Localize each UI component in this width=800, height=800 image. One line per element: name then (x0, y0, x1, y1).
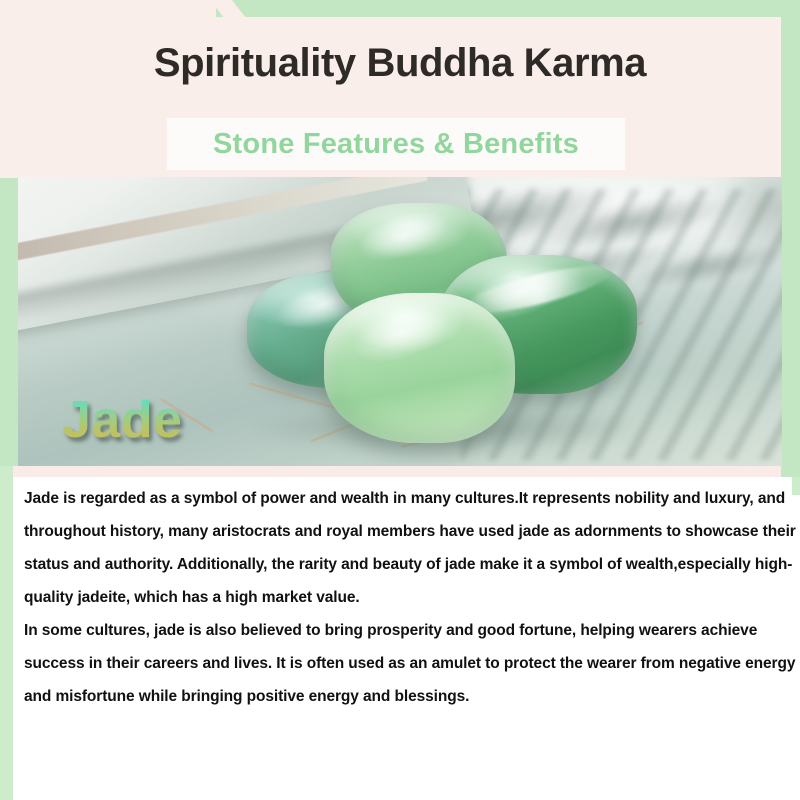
green-rail-left (0, 466, 13, 800)
subtitle-text: Stone Features & Benefits (213, 128, 579, 161)
page-title: Spirituality Buddha Karma (0, 40, 800, 86)
product-info-banner: Spirituality Buddha Karma Stone Features… (0, 0, 800, 800)
body-paragraph-1: Jade is regarded as a symbol of power an… (24, 482, 796, 614)
pink-divider-right-cap (781, 466, 800, 477)
pink-divider (0, 466, 781, 477)
body-paragraph-2: In some cultures, jade is also believed … (24, 614, 796, 713)
body-description: Jade is regarded as a symbol of power an… (24, 482, 796, 713)
jade-stone-front (324, 293, 515, 443)
subtitle-banner: Stone Features & Benefits (167, 118, 625, 170)
pink-header-panel-left-extension (0, 0, 216, 19)
photo-caption-jade: Jade (62, 394, 183, 446)
